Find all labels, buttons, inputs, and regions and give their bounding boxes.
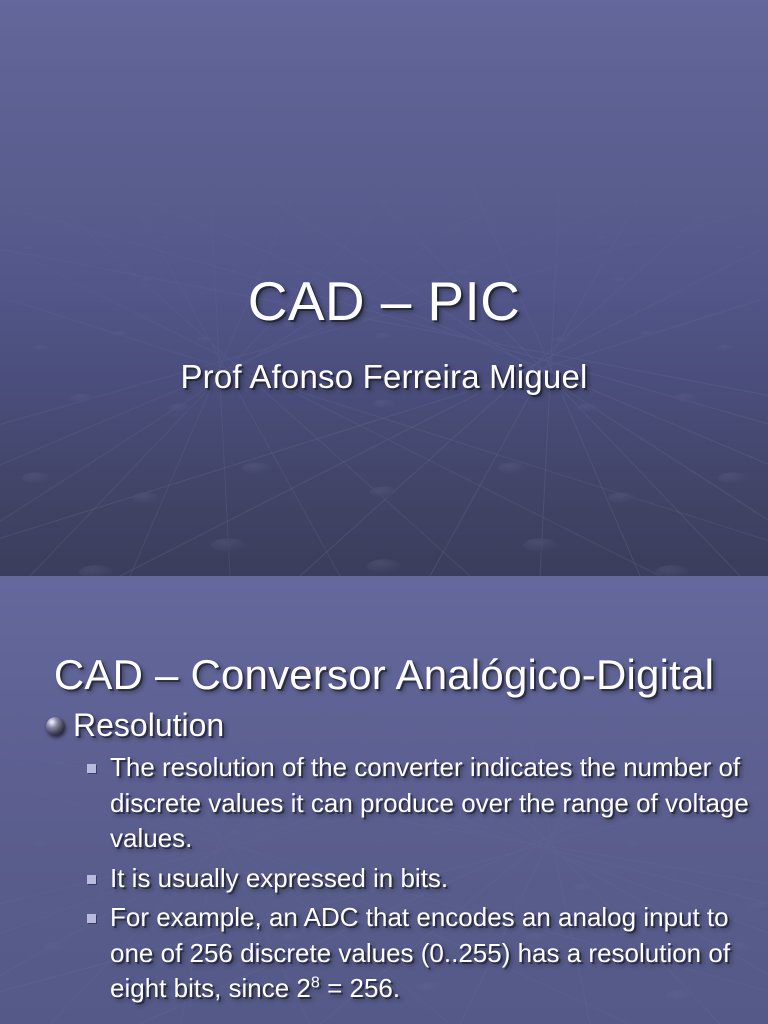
bullet-level2-item: It is usually expressed in bits. — [44, 861, 750, 897]
slide-title-subtitle: Prof Afonso Ferreira Miguel — [0, 355, 768, 399]
bullet-level2-text: The resolution of the converter indicate… — [110, 752, 749, 853]
slide-title-heading: CAD – PIC — [0, 269, 768, 333]
slide-content: CAD – Conversor Analógico-Digital Resolu… — [0, 576, 768, 1024]
square-bullet-icon — [87, 764, 96, 773]
bullet-level2-text-before-exponent: For example, an ADC that encodes an anal… — [110, 902, 730, 1003]
bullet-level2-text-after-exponent: = 256. — [320, 973, 400, 1003]
slide-title: CAD – PIC Prof Afonso Ferreira Miguel — [0, 0, 768, 576]
bullet-level2-list: The resolution of the converter indicate… — [44, 750, 750, 1007]
square-bullet-icon — [87, 914, 96, 923]
square-bullet-icon — [87, 875, 96, 884]
bullet-level1-label: Resolution — [73, 707, 224, 743]
bullet-level1-resolution: Resolution — [44, 704, 750, 746]
bullet-level2-item: The resolution of the converter indicate… — [44, 750, 750, 857]
slide-deck-page: CAD – PIC Prof Afonso Ferreira Miguel — [0, 0, 768, 1024]
sphere-bullet-icon — [46, 717, 65, 736]
slide-content-heading: CAD – Conversor Analógico-Digital — [26, 649, 742, 701]
exponent-superscript: 8 — [311, 973, 320, 991]
slide-content-body: Resolution The resolution of the convert… — [44, 704, 750, 1011]
bullet-level2-text: It is usually expressed in bits. — [110, 863, 448, 893]
bullet-level2-item: For example, an ADC that encodes an anal… — [44, 900, 750, 1007]
